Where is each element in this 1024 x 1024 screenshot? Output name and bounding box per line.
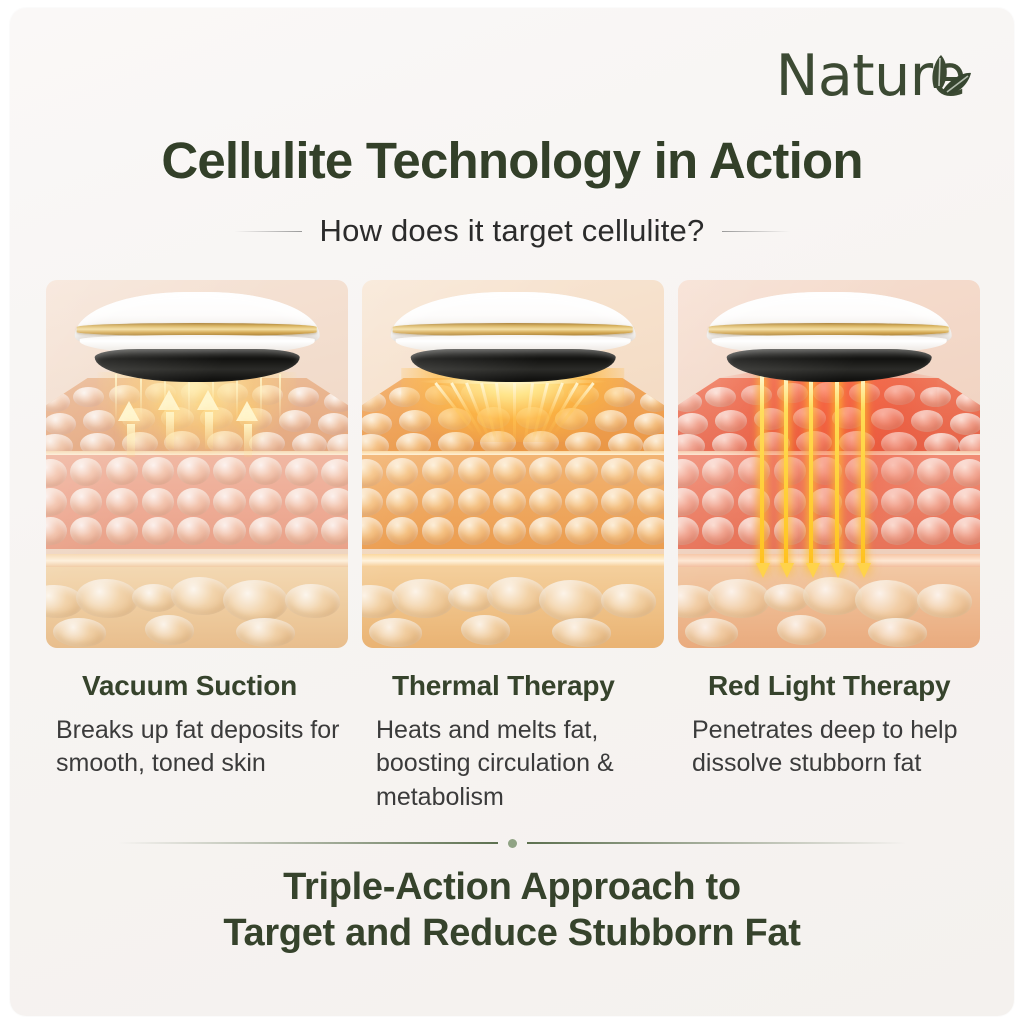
card-vacuum-suction[interactable]: Vacuum Suction Breaks up fat deposits fo… [46, 280, 348, 814]
card-title: Vacuum Suction [82, 670, 348, 702]
suction-arrow-icon [118, 401, 140, 421]
light-beam-tip [806, 563, 820, 578]
deep-fat-globules [46, 567, 348, 648]
subtitle-rule-right [722, 231, 790, 232]
subtitle-row: How does it target cellulite? [10, 213, 1014, 249]
brand-logo: Nature [776, 48, 966, 120]
red-light-hotspot [720, 372, 937, 541]
device-gold-band [393, 323, 633, 336]
footer-divider-line-left [118, 842, 498, 844]
card-description: Breaks up fat deposits for smooth, toned… [56, 714, 348, 781]
light-beam-tip [780, 563, 794, 578]
device-head [75, 292, 320, 391]
light-beam [835, 376, 839, 567]
light-beam [809, 376, 813, 567]
card-description: Penetrates deep to help dissolve stubbor… [692, 714, 980, 781]
subtitle: How does it target cellulite? [320, 213, 705, 249]
footer-divider-dot [508, 839, 517, 848]
dermis-layer [46, 455, 348, 549]
footer-divider [118, 838, 906, 848]
illustration-red-light-therapy [678, 280, 980, 648]
device-gold-band [77, 323, 317, 336]
page-title: Cellulite Technology in Action [10, 131, 1014, 190]
two-leaves-icon [910, 52, 972, 110]
illustration-vacuum-suction [46, 280, 348, 648]
light-beam [784, 376, 788, 567]
illustration-thermal-therapy [362, 280, 664, 648]
suction-arrow-icon [236, 401, 258, 421]
deep-fat-globules [362, 567, 664, 648]
dermis-cells [362, 455, 664, 549]
device-contact-rim [410, 349, 615, 382]
device-head [391, 292, 636, 391]
deep-fat-layer [678, 567, 980, 648]
infographic-panel: Nature Cellulite Technology in Action Ho… [10, 8, 1014, 1016]
card-red-light-therapy[interactable]: Red Light Therapy Penetrates deep to hel… [678, 280, 980, 814]
footer-tagline: Triple-Action Approach to Target and Red… [10, 865, 1014, 956]
light-beam-tip [756, 563, 770, 578]
device-contact-rim [94, 349, 299, 382]
footer-tagline-line-1: Triple-Action Approach to [10, 865, 1014, 911]
deep-fat-layer [362, 567, 664, 648]
card-title: Red Light Therapy [708, 670, 980, 702]
light-beam-tip [831, 563, 845, 578]
device-gold-band [709, 323, 949, 336]
light-beam [861, 376, 865, 567]
device-contact-rim [726, 349, 931, 382]
light-beam [760, 376, 764, 567]
subtitle-rule-left [234, 231, 302, 232]
card-description: Heats and melts fat, boosting circulatio… [376, 714, 664, 814]
suction-arrow-icon [158, 390, 180, 410]
cards-row: Vacuum Suction Breaks up fat deposits fo… [46, 280, 978, 814]
dermis-layer [362, 455, 664, 549]
card-thermal-therapy[interactable]: Thermal Therapy Heats and melts fat, boo… [362, 280, 664, 814]
device-head [707, 292, 952, 391]
dermis-cells [46, 455, 348, 549]
footer-divider-line-right [527, 842, 907, 844]
deep-fat-layer [46, 567, 348, 648]
suction-arrow-icon [197, 390, 219, 410]
footer-tagline-line-2: Target and Reduce Stubborn Fat [10, 911, 1014, 957]
card-title: Thermal Therapy [392, 670, 664, 702]
light-beam-tip [857, 563, 871, 578]
deep-fat-globules [678, 567, 980, 648]
